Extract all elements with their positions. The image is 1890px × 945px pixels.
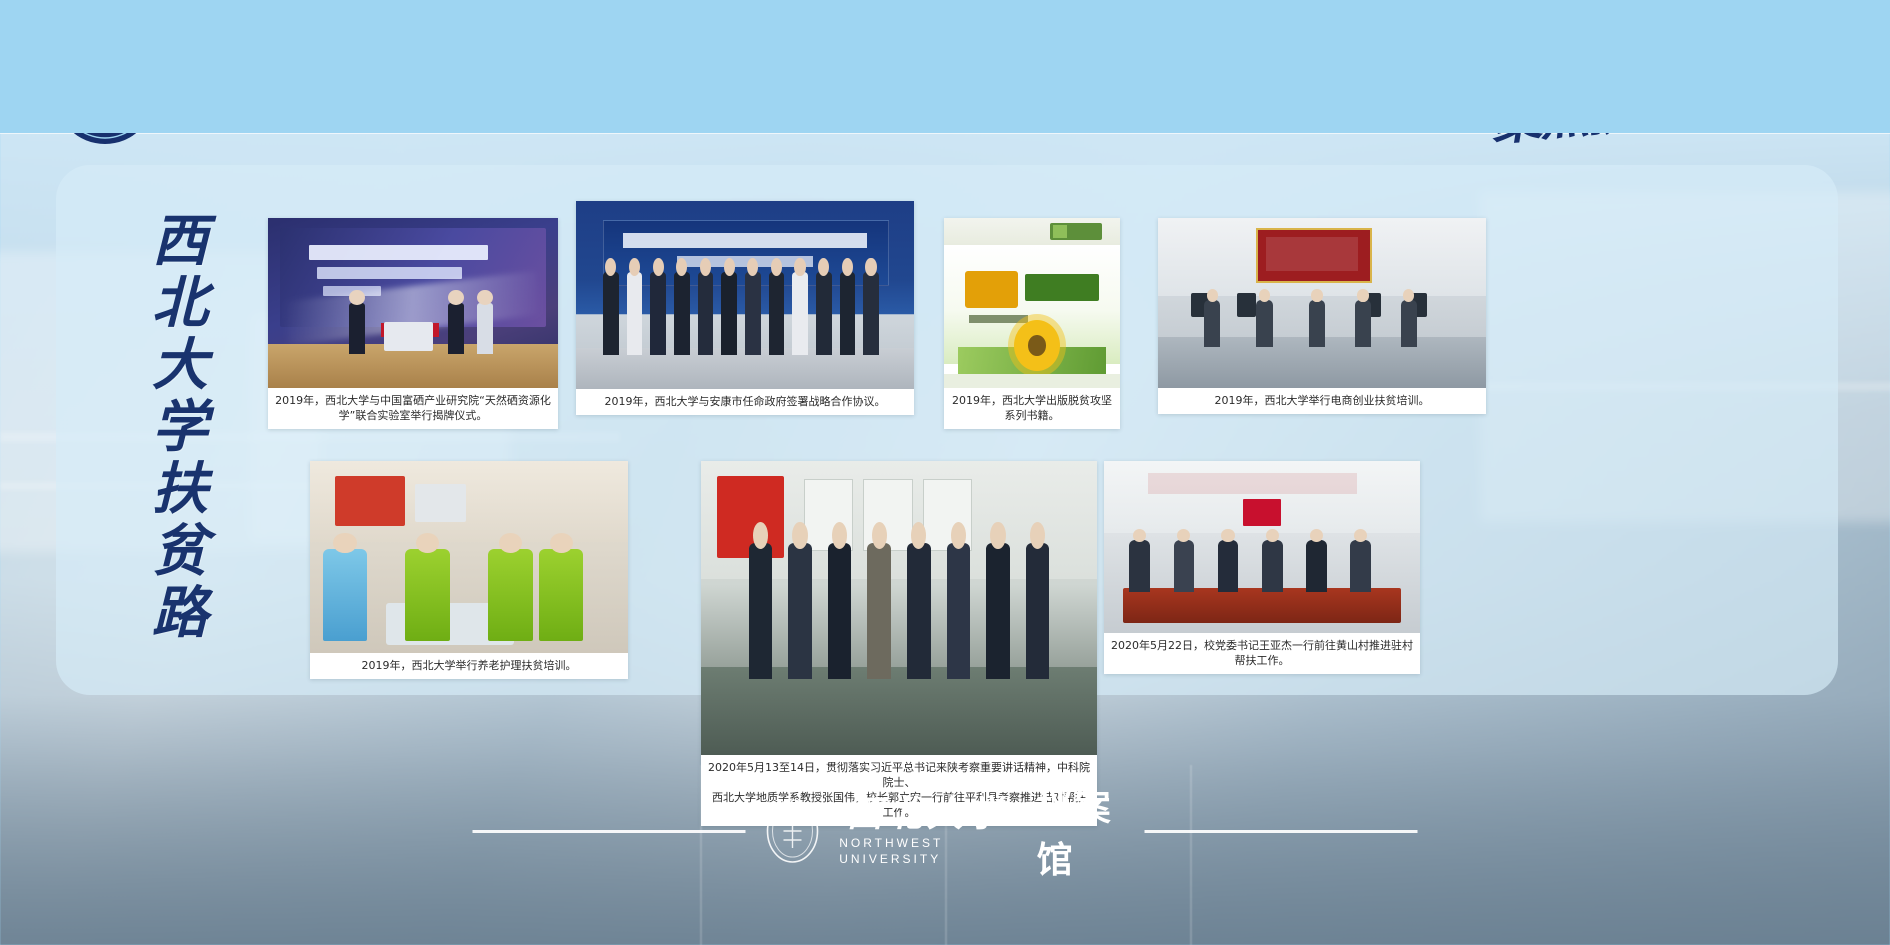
photo-caption: 2020年5月22日，校党委书记王亚杰一行前往黄山村推进驻村帮扶工作。: [1104, 633, 1420, 674]
university-name-en: NORTHWEST UNIVERSITY: [839, 835, 1014, 867]
photo-card[interactable]: 2019年，西北大学与中国富硒产业研究院“天然硒资源化学”联合实验室举行揭牌仪式…: [268, 218, 558, 429]
poster-stage: 中国 档案 CHINA ARCHIVES 庆祝6·9“国际档案日” 档案见证小康…: [0, 0, 1890, 945]
vertical-exhibit-title: 西 北 大 学 扶 贫 路: [137, 210, 223, 644]
vtitle-char-1: 北: [137, 272, 223, 334]
footer-rule-left: [473, 830, 746, 833]
department-name: 档案馆: [1037, 779, 1131, 883]
photo-caption: 2019年，西北大学与中国富硒产业研究院“天然硒资源化学”联合实验室举行揭牌仪式…: [268, 388, 558, 429]
vtitle-char-4: 扶: [137, 458, 223, 520]
photo-caption: 2019年，西北大学出版脱贫攻坚系列书籍。: [944, 388, 1120, 429]
university-name-cn: 西北大学: [847, 795, 1007, 833]
photo-poverty-alleviation-books: [944, 218, 1120, 388]
photo-caption: 2019年，西北大学与安康市任命政府签署战略合作协议。: [576, 389, 914, 415]
photo-card[interactable]: 2019年，西北大学举行电商创业扶贫培训。: [1158, 218, 1486, 414]
photo-lab-unveiling-ceremony: [268, 218, 558, 388]
photo-ankang-strategic-agreement: [576, 201, 914, 389]
photo-card[interactable]: 2019年，西北大学出版脱贫攻坚系列书籍。: [944, 218, 1120, 429]
vtitle-char-0: 西: [137, 210, 223, 272]
northwest-university-seal-icon: [759, 798, 825, 864]
photo-card[interactable]: 2020年5月22日，校党委书记王亚杰一行前往黄山村推进驻村帮扶工作。: [1104, 461, 1420, 674]
footer: 西北大学 NORTHWEST UNIVERSITY 档案馆: [0, 755, 1890, 945]
vtitle-char-5: 贫: [137, 520, 223, 582]
photo-card[interactable]: 2019年，西北大学与安康市任命政府签署战略合作协议。: [576, 201, 914, 415]
footer-rule-right: [1145, 830, 1418, 833]
photo-pingli-county-inspection: [701, 461, 1097, 755]
vtitle-char-6: 路: [137, 582, 223, 644]
vtitle-char-3: 学: [137, 396, 223, 458]
photo-huangshan-village-meeting: [1104, 461, 1420, 633]
photo-caption: 2019年，西北大学举行电商创业扶贫培训。: [1158, 388, 1486, 414]
photo-caption: 2019年，西北大学举行养老护理扶贫培训。: [310, 653, 628, 679]
vtitle-char-2: 大: [137, 334, 223, 396]
header-band: [0, 0, 1890, 133]
university-wordmark: 西北大学 NORTHWEST UNIVERSITY: [839, 795, 1014, 867]
photo-ecommerce-startup-training: [1158, 218, 1486, 388]
photo-elderly-care-training: [310, 461, 628, 653]
photo-card[interactable]: 2019年，西北大学举行养老护理扶贫培训。: [310, 461, 628, 679]
